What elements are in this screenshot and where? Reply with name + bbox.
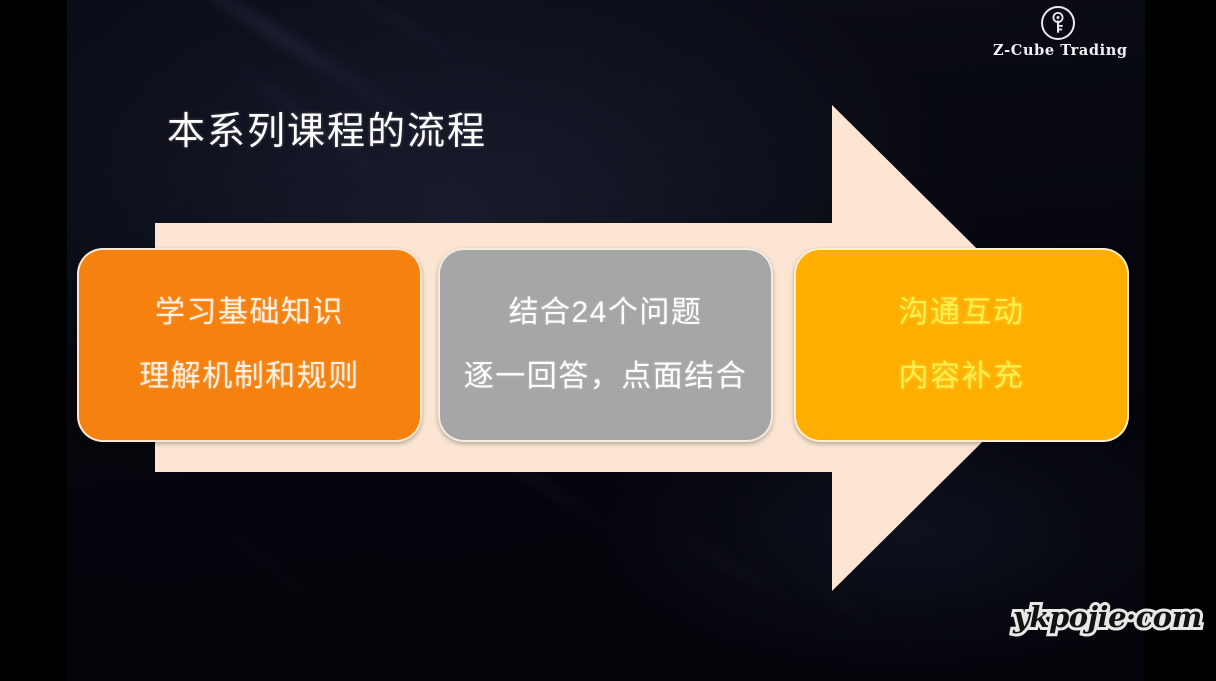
background-streak xyxy=(204,509,330,616)
brand-name: Z-Cube Trading xyxy=(993,42,1123,59)
process-step-1-line-2: 理解机制和规则 xyxy=(139,362,360,392)
background-streak xyxy=(318,0,477,69)
background-streak xyxy=(639,510,816,616)
key-icon xyxy=(1041,6,1075,40)
brand-logo: Z-Cube Trading xyxy=(993,6,1123,59)
background-streak xyxy=(780,556,905,649)
process-step-1[interactable]: 学习基础知识 理解机制和规则 xyxy=(77,248,422,442)
process-steps: 学习基础知识 理解机制和规则 结合24个问题 逐一回答，点面结合 沟通互动 内容… xyxy=(67,248,1145,444)
letterbox-right xyxy=(1145,0,1216,681)
process-step-3-line-2: 内容补充 xyxy=(899,362,1025,392)
video-slide-frame: Z-Cube Trading 本系列课程的流程 学习基础知识 理解机制和规则 结… xyxy=(0,0,1216,681)
slide-canvas: Z-Cube Trading 本系列课程的流程 学习基础知识 理解机制和规则 结… xyxy=(67,0,1145,681)
process-step-1-line-1: 学习基础知识 xyxy=(155,298,344,328)
process-step-3[interactable]: 沟通互动 内容补充 xyxy=(794,248,1129,442)
process-step-3-line-1: 沟通互动 xyxy=(899,298,1025,328)
process-step-2-line-1: 结合24个问题 xyxy=(509,298,703,328)
process-step-2[interactable]: 结合24个问题 逐一回答，点面结合 xyxy=(438,248,773,442)
page-title: 本系列课程的流程 xyxy=(167,100,487,155)
process-step-2-line-2: 逐一回答，点面结合 xyxy=(464,362,748,392)
site-watermark: ykpojie·com xyxy=(1013,600,1202,634)
letterbox-left xyxy=(0,0,67,681)
